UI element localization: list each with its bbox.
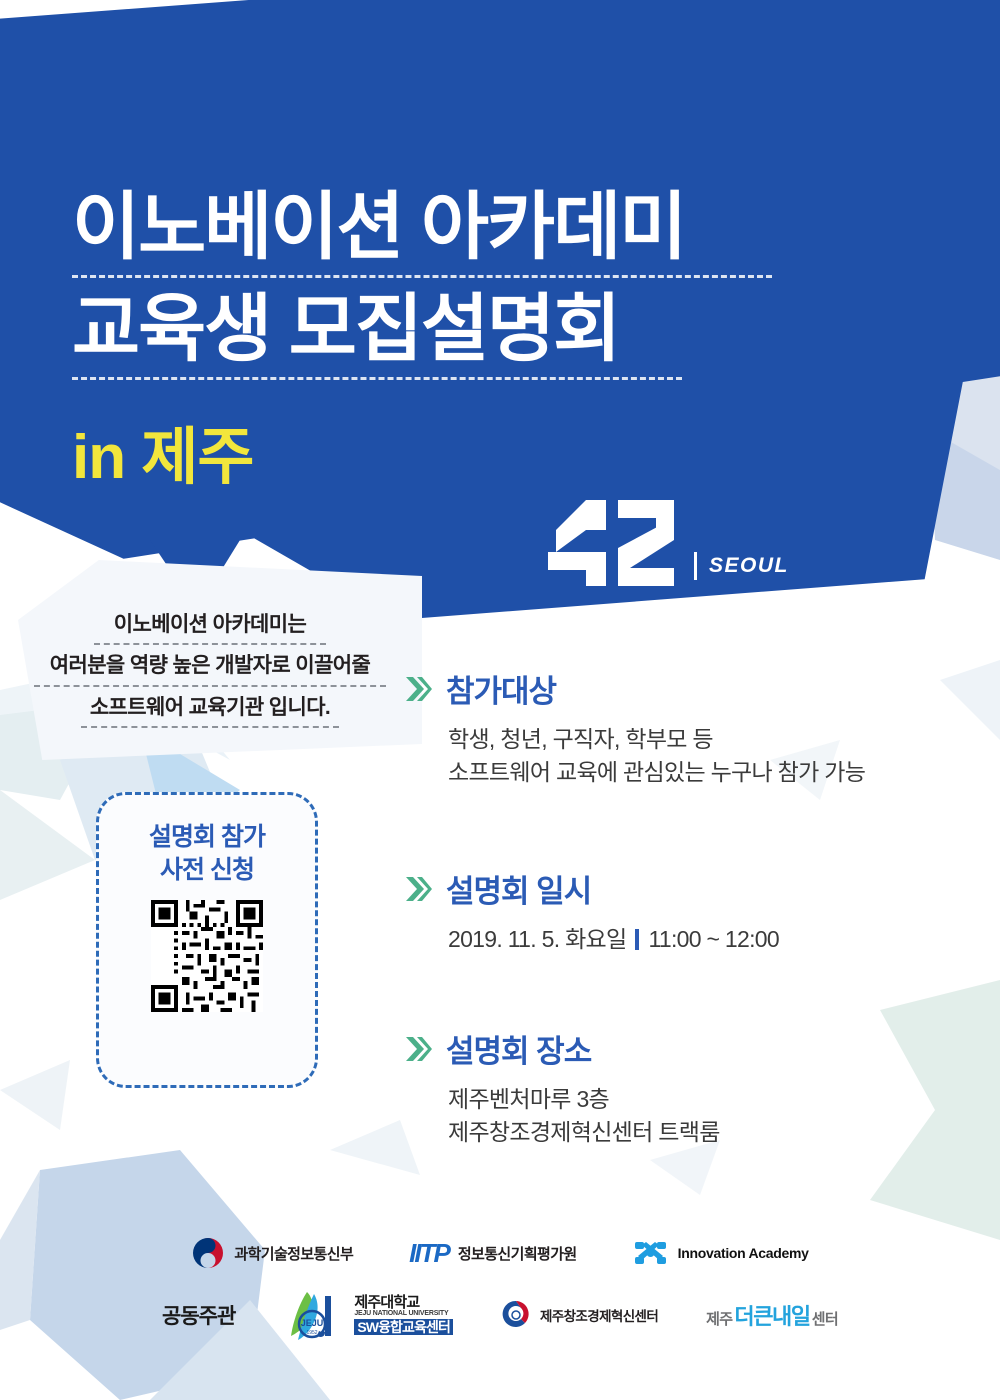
jnu-center-name: SW융합교육센터 [354, 1319, 453, 1335]
footer-row-host: 과학기술정보통신부 IITP 정보통신기획평가원 [0, 1236, 1000, 1270]
intro-divider-1 [94, 643, 326, 645]
chevron-right-icon [406, 875, 432, 903]
section-venue: 설명회 장소 제주벤처마루 3층 제주창조경제혁신센터 트랙룸 [406, 1026, 986, 1150]
logo-42-seoul: SEOUL [548, 500, 789, 586]
logo-jeju-national-university: JEJU 1952 제주대학교 JEJU NATIONAL UNIVERSITY… [287, 1288, 453, 1342]
intro-divider-3 [81, 726, 339, 728]
section-venue-title: 설명회 장소 [446, 1026, 591, 1071]
participants-line-2: 소프트웨어 교육에 관심있는 누구나 참가 가능 [448, 756, 986, 789]
logo-innovation-academy-label: Innovation Academy [678, 1245, 809, 1261]
section-datetime-title: 설명회 일시 [446, 866, 591, 911]
dkni-accent: 더큰내일 [734, 1299, 809, 1331]
section-datetime: 설명회 일시 2019. 11. 5. 화요일11:00 ~ 12:00 [406, 866, 986, 956]
section-participants: 참가대상 학생, 청년, 구직자, 학부모 등 소프트웨어 교육에 관심있는 누… [406, 666, 986, 790]
title-line-2: 교육생 모집설명회 [72, 288, 812, 371]
logo-iitp: IITP 정보통신기획평가원 [409, 1238, 576, 1269]
datetime-separator [635, 929, 639, 950]
section-datetime-body: 2019. 11. 5. 화요일11:00 ~ 12:00 [448, 923, 986, 956]
logo-iitp-label: 정보통신기획평가원 [458, 1243, 577, 1264]
intro-divider-2 [34, 685, 386, 687]
section-participants-header: 참가대상 [406, 666, 986, 711]
logo-msit-label: 과학기술정보통신부 [234, 1243, 353, 1264]
title-line-1: 이노베이션 아카데미 [72, 186, 812, 269]
participants-line-1: 학생, 청년, 구직자, 학부모 등 [448, 723, 986, 756]
poster-canvas: 이노베이션 아카데미 교육생 모집설명회 in 제주 SEOUL 이노베이션 아… [0, 0, 1000, 1400]
footer-logos: 과학기술정보통신부 IITP 정보통신기획평가원 [0, 1236, 1000, 1342]
coorganizer-label: 공동주관 [162, 1300, 235, 1330]
taegeuk-icon [191, 1236, 225, 1270]
datetime-line: 2019. 11. 5. 화요일11:00 ~ 12:00 [448, 923, 986, 956]
logo-jeju-ccei-label: 제주창조경제혁신센터 [540, 1305, 658, 1325]
logo-iitp-mark: IITP [409, 1238, 449, 1269]
qr-code-icon[interactable] [151, 900, 263, 1012]
intro-line-2: 여러분을 역량 높은 개발자로 이끌어줄 [10, 653, 410, 679]
logo-jeju-deokeun-naeil: 제주 더큰내일 센터 [706, 1299, 838, 1331]
jnu-name-en: JEJU NATIONAL UNIVERSITY [354, 1310, 453, 1317]
logo-42-seoul-suffix: SEOUL [694, 552, 789, 586]
qr-title-line-2: 사전 신청 [149, 854, 265, 887]
event-date: 2019. 11. 5. 화요일 [448, 926, 626, 952]
intro-line-1: 이노베이션 아카데미는 [10, 612, 410, 638]
logo-innovation-academy: Innovation Academy [633, 1238, 809, 1268]
title-divider-2 [72, 377, 682, 380]
jeju-ccei-icon [501, 1299, 531, 1331]
section-datetime-header: 설명회 일시 [406, 866, 986, 911]
logo-city-label: SEOUL [709, 554, 789, 578]
qr-title-line-1: 설명회 참가 [149, 821, 265, 854]
intro-text-block: 이노베이션 아카데미는 여러분을 역량 높은 개발자로 이끌어줄 소프트웨어 교… [10, 612, 410, 736]
jnu-name-ko: 제주대학교 [354, 1295, 453, 1310]
innovation-academy-icon [633, 1238, 669, 1268]
poster-title-block: 이노베이션 아카데미 교육생 모집설명회 in 제주 [72, 186, 812, 496]
registration-qr-box[interactable]: 설명회 참가 사전 신청 [96, 792, 318, 1088]
section-participants-body: 학생, 청년, 구직자, 학부모 등 소프트웨어 교육에 관심있는 누구나 참가… [448, 723, 986, 790]
intro-line-3: 소프트웨어 교육기관 입니다. [10, 695, 410, 721]
title-subtitle: in 제주 [72, 406, 812, 496]
title-divider-1 [72, 275, 772, 278]
logo-msit: 과학기술정보통신부 [191, 1236, 353, 1270]
logo-42-mark [548, 500, 678, 586]
venue-line-1: 제주벤처마루 3층 [448, 1083, 986, 1116]
logo-jeju-ccei: 제주창조경제혁신센터 [501, 1299, 658, 1331]
dkni-suffix: 센터 [812, 1308, 838, 1329]
chevron-right-icon [406, 1035, 432, 1063]
venue-line-2: 제주창조경제혁신센터 트랙룸 [448, 1116, 986, 1149]
jnu-badge-text: JEJU [301, 1318, 324, 1328]
section-venue-header: 설명회 장소 [406, 1026, 986, 1071]
dkni-prefix: 제주 [706, 1308, 732, 1329]
qr-box-title: 설명회 참가 사전 신청 [149, 821, 265, 886]
section-venue-body: 제주벤처마루 3층 제주창조경제혁신센터 트랙룸 [448, 1083, 986, 1150]
logo-divider-bar [694, 552, 697, 580]
jnu-badge-year: 1952 [307, 1330, 318, 1336]
section-participants-title: 참가대상 [446, 666, 556, 711]
footer-row-coorganizers: 공동주관 JEJU 1952 제주대학교 JEJU NATIONAL UNIVE… [0, 1288, 1000, 1342]
jnu-emblem-icon: JEJU 1952 [287, 1288, 345, 1342]
event-time: 11:00 ~ 12:00 [648, 926, 779, 952]
jnu-name-stack: 제주대학교 JEJU NATIONAL UNIVERSITY SW융합교육센터 [354, 1295, 453, 1335]
